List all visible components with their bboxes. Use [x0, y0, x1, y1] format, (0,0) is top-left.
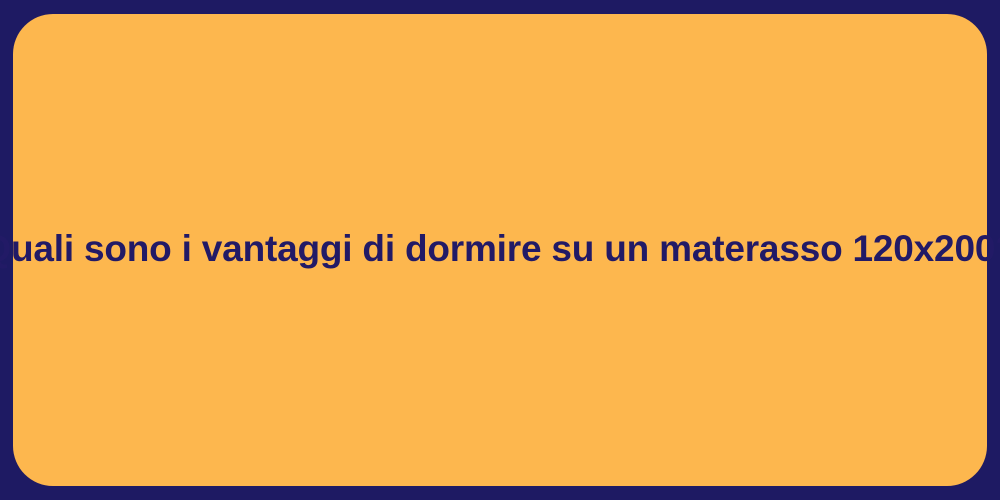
headline-question: Quali sono i vantaggi di dormire su un m…: [0, 227, 1000, 271]
card-panel: Quali sono i vantaggi di dormire su un m…: [13, 14, 987, 486]
card-outer-frame: Quali sono i vantaggi di dormire su un m…: [0, 0, 1000, 500]
